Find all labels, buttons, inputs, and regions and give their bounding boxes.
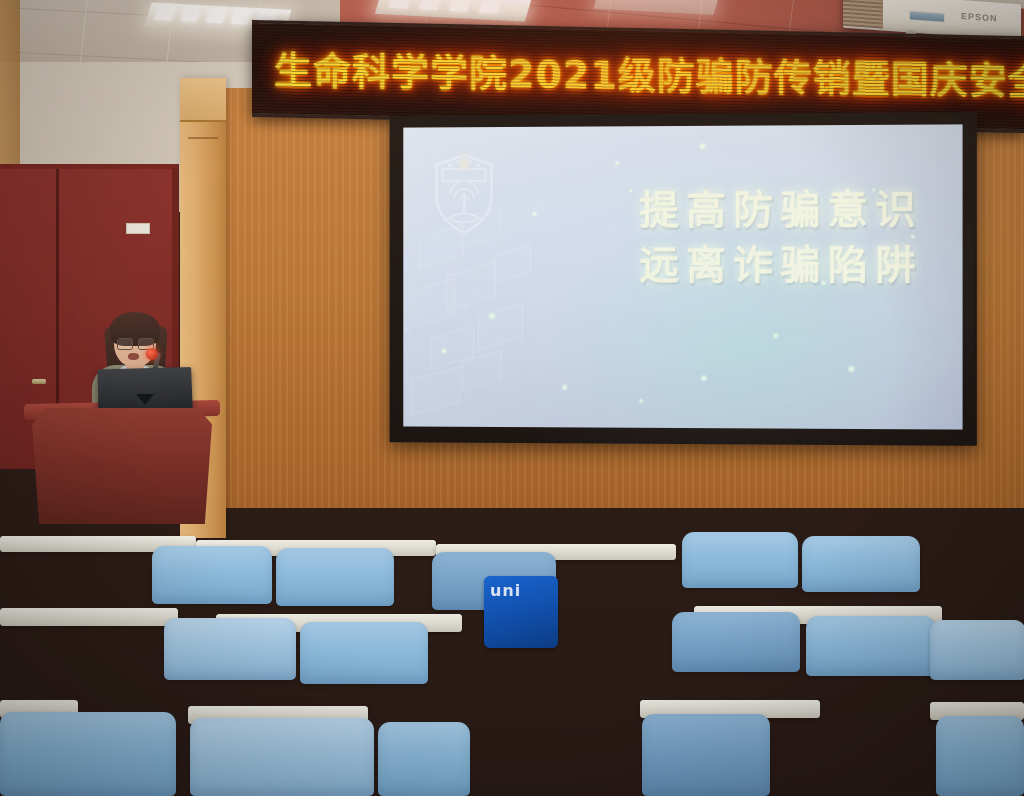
- microphone-indicator-light: [146, 348, 158, 360]
- bokeh-light: [531, 210, 538, 217]
- seat-row-3[interactable]: [378, 722, 470, 796]
- door-room-sign: [126, 223, 150, 234]
- seat-row-1[interactable]: [152, 546, 272, 604]
- slide-headline-line-1: 提高防骗意识: [590, 183, 962, 239]
- student-backpack: uni: [484, 576, 558, 648]
- desk-row-2: [0, 608, 178, 626]
- bokeh-light: [910, 234, 916, 240]
- presenter-mouth: [128, 353, 139, 360]
- bokeh-light: [772, 332, 779, 339]
- slide-headline: 提高防骗意识 远离诈骗陷阱: [590, 183, 962, 295]
- lecture-hall-photo: EPSON 生命科学学院2021级防骗防传销暨国庆安全教育主题: [0, 0, 1024, 796]
- projector-lens: [909, 10, 945, 23]
- bokeh-light: [698, 142, 707, 151]
- bokeh-light: [614, 160, 620, 166]
- led-banner-text: 生命科学学院2021级防骗防传销暨国庆安全教育主题: [274, 40, 1024, 108]
- laptop-logo-icon: [136, 394, 154, 405]
- bokeh-light: [700, 374, 708, 382]
- seat-row-1[interactable]: [682, 532, 798, 588]
- podium: [32, 408, 212, 524]
- slide-decorative-tiles: [403, 206, 620, 429]
- bokeh-light: [488, 312, 497, 321]
- seat-row-2[interactable]: [300, 622, 428, 684]
- bokeh-light: [561, 384, 569, 392]
- slide-headline-line-2: 远离诈骗陷阱: [590, 239, 962, 295]
- seat-row-2[interactable]: [672, 612, 800, 672]
- projector-vent: [843, 0, 883, 29]
- pilaster-groove: [188, 137, 218, 139]
- bokeh-light: [847, 365, 856, 374]
- door-handle[interactable]: [32, 379, 46, 384]
- bokeh-light: [628, 188, 633, 193]
- pilaster-cap: [180, 78, 226, 122]
- seat-row-3[interactable]: [190, 718, 374, 796]
- seat-row-2[interactable]: [806, 616, 936, 676]
- projector-brand-label: EPSON: [961, 11, 998, 24]
- bokeh-light: [871, 187, 876, 192]
- bokeh-light: [821, 280, 827, 286]
- seat-row-2[interactable]: [164, 618, 296, 680]
- projection-screen: 提高防骗意识 远离诈骗陷阱: [390, 112, 977, 446]
- seat-row-3[interactable]: [936, 716, 1024, 796]
- seat-row-3[interactable]: [0, 712, 176, 796]
- seat-row-1[interactable]: [276, 548, 394, 606]
- presenter-glasses-icon: [117, 338, 153, 348]
- seat-row-2[interactable]: [930, 620, 1024, 680]
- seat-row-3[interactable]: [642, 714, 770, 796]
- bokeh-light: [440, 347, 447, 354]
- bokeh-light: [638, 398, 644, 404]
- projection-screen-surface: 提高防骗意识 远离诈骗陷阱: [403, 124, 962, 429]
- backpack-logo: uni: [490, 581, 521, 600]
- seat-row-1[interactable]: [802, 536, 920, 592]
